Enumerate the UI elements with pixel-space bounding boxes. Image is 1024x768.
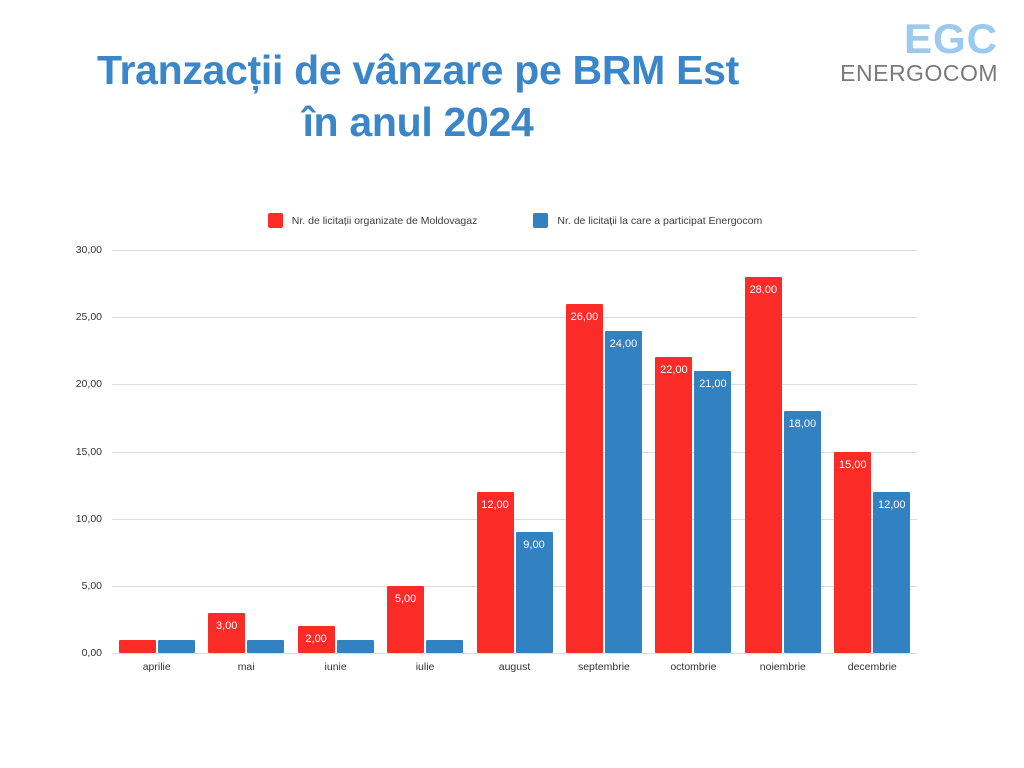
gridline	[112, 250, 917, 251]
grouped-bar-chart: 0,005,0010,0015,0020,0025,0030,00aprilie…	[0, 0, 1024, 768]
bar-value-label: 18,00	[772, 418, 832, 430]
chart-plot-area: 0,005,0010,0015,0020,0025,0030,00aprilie…	[112, 250, 917, 653]
bar-noiembrie-energocom[interactable]	[784, 411, 821, 653]
gridline	[112, 317, 917, 318]
bar-aprilie-energocom[interactable]	[158, 640, 195, 653]
bar-octombrie-moldovagaz[interactable]	[655, 357, 692, 653]
bar-value-label: 26,00	[554, 311, 614, 323]
y-axis-tick-label: 25,00	[16, 311, 102, 323]
gridline	[112, 653, 917, 654]
bar-septembrie-energocom[interactable]	[605, 331, 642, 653]
bar-value-label: 15,00	[823, 459, 883, 471]
bar-value-label: 28,00	[733, 284, 793, 296]
gridline	[112, 384, 917, 385]
bar-value-label: 9,00	[504, 539, 564, 551]
bar-value-label: 5,00	[376, 593, 436, 605]
y-axis-tick-label: 20,00	[16, 378, 102, 390]
bar-value-label: 21,00	[683, 378, 743, 390]
x-axis-label-decembrie: decembrie	[812, 661, 932, 673]
y-axis-tick-label: 30,00	[16, 244, 102, 256]
y-axis-tick-label: 15,00	[16, 446, 102, 458]
bar-noiembrie-moldovagaz[interactable]	[745, 277, 782, 653]
bar-value-label: 3,00	[197, 620, 257, 632]
bar-decembrie-energocom[interactable]	[873, 492, 910, 653]
bar-octombrie-energocom[interactable]	[694, 371, 731, 653]
bar-decembrie-moldovagaz[interactable]	[834, 452, 871, 654]
bar-iulie-energocom[interactable]	[426, 640, 463, 653]
y-axis-tick-label: 10,00	[16, 513, 102, 525]
y-axis-tick-label: 0,00	[16, 647, 102, 659]
y-axis-tick-label: 5,00	[16, 580, 102, 592]
bar-septembrie-moldovagaz[interactable]	[566, 304, 603, 653]
bar-aprilie-moldovagaz[interactable]	[119, 640, 156, 653]
bar-value-label: 24,00	[593, 338, 653, 350]
bar-value-label: 12,00	[862, 499, 922, 511]
bar-mai-energocom[interactable]	[247, 640, 284, 653]
bar-august-moldovagaz[interactable]	[477, 492, 514, 653]
bar-value-label: 12,00	[465, 499, 525, 511]
bar-iunie-energocom[interactable]	[337, 640, 374, 653]
